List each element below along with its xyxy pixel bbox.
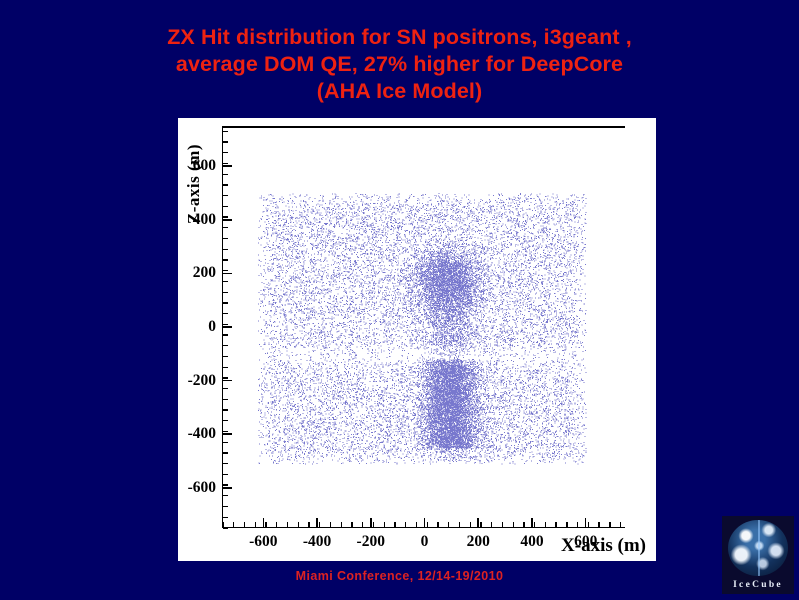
y-tick-minor: [223, 409, 228, 410]
x-tick-minor: [298, 522, 299, 527]
y-tick-label: -600: [188, 479, 216, 497]
x-tick-minor: [308, 522, 309, 527]
y-tick-minor: [223, 238, 228, 239]
x-tick-minor: [513, 522, 514, 527]
x-tick-minor: [566, 522, 567, 527]
y-tick-major: [223, 219, 232, 221]
slide-title: ZX Hit distribution for SN positrons, i3…: [0, 24, 799, 105]
x-tick-minor: [233, 522, 234, 527]
x-tick-major: [531, 518, 533, 527]
y-tick-minor: [223, 292, 228, 293]
y-tick-major: [223, 433, 232, 435]
y-tick-minor: [223, 506, 228, 507]
x-tick-minor: [480, 522, 481, 527]
title-line-3: (AHA Ice Model): [0, 78, 799, 105]
x-tick-minor: [255, 522, 256, 527]
y-tick-minor: [223, 367, 228, 368]
x-tick-label: 600: [574, 533, 597, 551]
y-tick-minor: [223, 152, 228, 153]
scatter-points: [223, 126, 625, 527]
y-tick-minor: [223, 227, 228, 228]
y-tick-minor: [223, 377, 228, 378]
x-tick-major: [424, 518, 426, 527]
x-tick-minor: [491, 522, 492, 527]
slide-caption: Miami Conference, 12/14-19/2010: [0, 569, 799, 583]
y-tick-minor: [223, 195, 228, 196]
y-tick-major: [223, 326, 232, 328]
y-tick-minor: [223, 313, 228, 314]
y-tick-minor: [223, 216, 228, 217]
y-tick-minor: [223, 420, 228, 421]
y-tick-major: [223, 380, 232, 382]
y-tick-minor: [223, 206, 228, 207]
x-tick-minor: [588, 522, 589, 527]
x-tick-minor: [244, 522, 245, 527]
y-tick-label: 600: [193, 157, 216, 175]
x-tick-minor: [405, 522, 406, 527]
scatter-point-set: [258, 193, 587, 465]
x-tick-minor: [598, 522, 599, 527]
x-tick-minor: [416, 522, 417, 527]
plot-panel: Z-axis (m) X-axis (m) 6004002000-200-400…: [178, 118, 656, 561]
x-tick-minor: [620, 522, 621, 527]
x-tick-major: [316, 518, 318, 527]
y-tick-minor: [223, 399, 228, 400]
y-tick-label: -400: [188, 425, 216, 443]
x-tick-label: 200: [467, 533, 490, 551]
y-tick-label: 400: [193, 211, 216, 229]
x-tick-major: [263, 518, 265, 527]
y-tick-minor: [223, 249, 228, 250]
x-tick-minor: [287, 522, 288, 527]
x-tick-major: [585, 518, 587, 527]
y-tick-minor: [223, 345, 228, 346]
y-tick-minor: [223, 356, 228, 357]
x-tick-minor: [319, 522, 320, 527]
plot-frame: 6004002000-200-400-600-600-400-200020040…: [222, 126, 625, 528]
x-tick-minor: [448, 522, 449, 527]
y-tick-minor: [223, 184, 228, 185]
icecube-logo-string-icon: [758, 520, 760, 576]
x-tick-label: 400: [520, 533, 543, 551]
y-tick-minor: [223, 527, 228, 528]
x-tick-minor: [341, 522, 342, 527]
x-tick-minor: [502, 522, 503, 527]
y-tick-minor: [223, 474, 228, 475]
x-tick-minor: [330, 522, 331, 527]
x-tick-minor: [394, 522, 395, 527]
y-tick-label: 200: [193, 264, 216, 282]
y-tick-minor: [223, 388, 228, 389]
x-tick-minor: [427, 522, 428, 527]
y-tick-minor: [223, 463, 228, 464]
x-tick-minor: [351, 522, 352, 527]
x-tick-minor: [437, 522, 438, 527]
x-tick-label: 0: [421, 533, 429, 551]
x-tick-minor: [459, 522, 460, 527]
y-tick-minor: [223, 442, 228, 443]
x-tick-minor: [265, 522, 266, 527]
y-tick-minor: [223, 334, 228, 335]
y-tick-minor: [223, 131, 228, 132]
y-tick-minor: [223, 517, 228, 518]
y-tick-minor: [223, 495, 228, 496]
y-tick-label: 0: [208, 318, 216, 336]
icecube-logo: IceCube: [722, 516, 794, 594]
y-tick-minor: [223, 163, 228, 164]
y-tick-minor: [223, 270, 228, 271]
y-tick-minor: [223, 484, 228, 485]
y-tick-minor: [223, 431, 228, 432]
y-tick-minor: [223, 259, 228, 260]
y-tick-major: [223, 487, 232, 489]
y-tick-major: [223, 165, 232, 167]
x-tick-minor: [362, 522, 363, 527]
x-tick-minor: [384, 522, 385, 527]
y-tick-major: [223, 273, 232, 275]
x-tick-major: [477, 518, 479, 527]
y-tick-minor: [223, 174, 228, 175]
x-tick-label: -600: [249, 533, 277, 551]
y-tick-minor: [223, 141, 228, 142]
y-tick-minor: [223, 452, 228, 453]
y-tick-minor: [223, 281, 228, 282]
x-tick-minor: [609, 522, 610, 527]
x-tick-minor: [577, 522, 578, 527]
x-tick-major: [370, 518, 372, 527]
y-tick-minor: [223, 302, 228, 303]
icecube-logo-text: IceCube: [722, 580, 794, 590]
slide-canvas: ZX Hit distribution for SN positrons, i3…: [0, 0, 799, 600]
x-tick-minor: [276, 522, 277, 527]
x-tick-minor: [555, 522, 556, 527]
title-line-2: average DOM QE, 27% higher for DeepCore: [0, 51, 799, 78]
x-tick-minor: [373, 522, 374, 527]
x-tick-minor: [222, 522, 223, 527]
y-tick-minor: [223, 324, 228, 325]
scatter-plot-area: [223, 126, 625, 527]
x-tick-label: -200: [357, 533, 385, 551]
icecube-logo-disc: [728, 520, 788, 576]
y-tick-label: -200: [188, 372, 216, 390]
x-tick-minor: [470, 522, 471, 527]
x-tick-minor: [534, 522, 535, 527]
x-tick-minor: [523, 522, 524, 527]
x-tick-label: -400: [303, 533, 331, 551]
x-tick-minor: [545, 522, 546, 527]
title-line-1: ZX Hit distribution for SN positrons, i3…: [0, 24, 799, 51]
